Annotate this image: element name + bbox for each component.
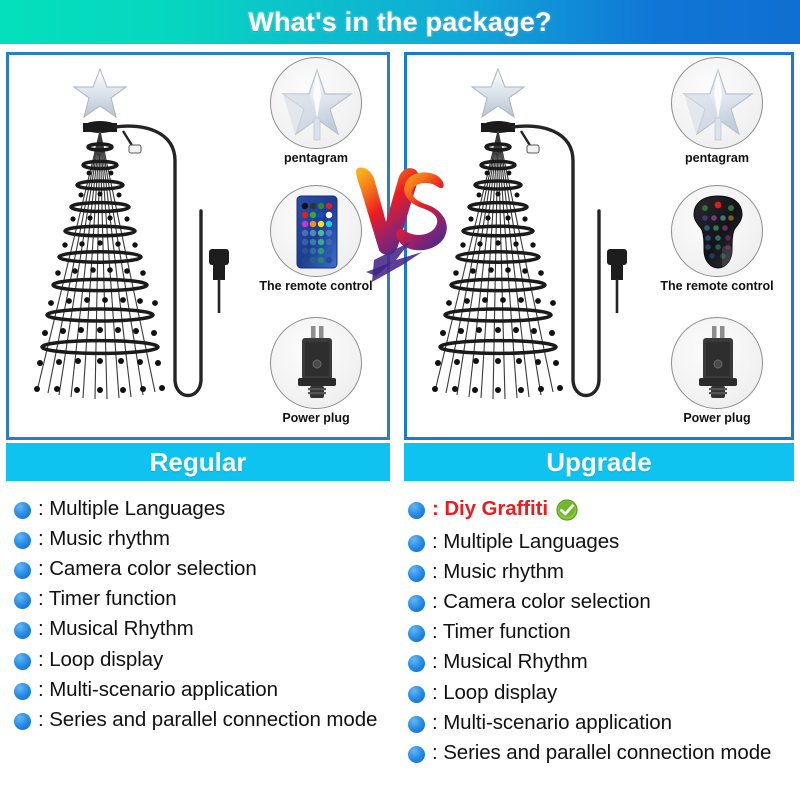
feature-label: : Loop display — [38, 645, 163, 674]
bullet-icon — [14, 562, 31, 579]
feature-item: : Music rhythm — [14, 524, 400, 553]
feature-list-upgrade: : Diy Graffiti: Multiple Languages: Musi… — [408, 494, 796, 768]
panel-regular: pentagram — [6, 52, 390, 440]
feature-label: : Diy Graffiti — [432, 494, 548, 523]
bullet-icon — [14, 592, 31, 609]
item-pentagram-upgrade: pentagram — [665, 57, 769, 165]
bullet-icon — [408, 595, 425, 612]
feature-label: : Timer function — [432, 617, 571, 646]
item-remote-upgrade: The remote control — [665, 185, 769, 293]
feature-label: : Timer function — [38, 584, 177, 613]
feature-label: : Music rhythm — [432, 557, 564, 586]
label-bar-regular: Regular — [6, 443, 390, 481]
item-plug-upgrade: Power plug — [665, 317, 769, 425]
bullet-icon — [408, 655, 425, 672]
label-bar-upgrade: Upgrade — [404, 443, 794, 481]
feature-item: : Musical Rhythm — [14, 614, 400, 643]
bullet-icon — [408, 625, 425, 642]
item-pentagram-regular: pentagram — [264, 57, 368, 165]
vs-icon — [352, 160, 452, 300]
tree-regular — [15, 61, 205, 433]
feature-item: : Camera color selection — [408, 587, 796, 616]
bullet-icon — [14, 502, 31, 519]
power-plug-icon — [671, 317, 763, 409]
item-plug-regular: Power plug — [264, 317, 368, 425]
feature-label: : Series and parallel connection mode — [432, 738, 771, 767]
bullet-icon — [408, 746, 425, 763]
bullet-icon — [14, 683, 31, 700]
bullet-icon — [408, 535, 425, 552]
cable-connector-icon — [597, 243, 637, 313]
vs-badge — [352, 160, 452, 300]
feature-item: : Music rhythm — [408, 557, 796, 586]
remote-control-blue-icon — [270, 185, 362, 277]
feature-item: : Timer function — [14, 584, 400, 613]
bullet-icon — [14, 622, 31, 639]
bullet-icon — [14, 532, 31, 549]
feature-item: : Multiple Languages — [14, 494, 400, 523]
christmas-tree-lights-icon — [15, 61, 205, 433]
check-icon — [556, 499, 578, 526]
bullet-icon — [408, 565, 425, 582]
bullet-icon — [408, 716, 425, 733]
feature-label: : Multi-scenario application — [38, 675, 278, 704]
feature-label: : Musical Rhythm — [432, 647, 588, 676]
bullet-icon — [14, 653, 31, 670]
feature-list-regular: : Multiple Languages: Music rhythm: Came… — [14, 494, 400, 735]
feature-label: : Music rhythm — [38, 524, 170, 553]
feature-label: : Camera color selection — [432, 587, 651, 616]
feature-item: : Diy Graffiti — [408, 494, 796, 526]
bullet-icon — [408, 502, 425, 519]
bullet-icon — [14, 713, 31, 730]
feature-label: : Series and parallel connection mode — [38, 705, 377, 734]
page-title: What's in the package? — [0, 0, 800, 44]
feature-item: : Series and parallel connection mode — [14, 705, 400, 734]
bullet-icon — [408, 686, 425, 703]
item-caption: Power plug — [665, 411, 769, 425]
star-topper-icon — [671, 57, 763, 149]
panel-label: Regular — [150, 447, 247, 478]
feature-label: : Musical Rhythm — [38, 614, 194, 643]
feature-label: : Camera color selection — [38, 554, 257, 583]
feature-item: : Multi-scenario application — [408, 708, 796, 737]
item-caption: pentagram — [665, 151, 769, 165]
infographic-page: What's in the package? — [0, 0, 800, 800]
remote-control-black-icon — [671, 185, 763, 277]
power-plug-icon — [270, 317, 362, 409]
panel-label: Upgrade — [546, 447, 651, 478]
feature-item: : Camera color selection — [14, 554, 400, 583]
feature-item: : Multiple Languages — [408, 527, 796, 556]
item-caption: Power plug — [264, 411, 368, 425]
feature-label: : Multiple Languages — [432, 527, 619, 556]
feature-label: : Loop display — [432, 678, 557, 707]
star-topper-icon — [270, 57, 362, 149]
feature-label: : Multi-scenario application — [432, 708, 672, 737]
feature-item: : Musical Rhythm — [408, 647, 796, 676]
panel-upgrade: pentagram — [404, 52, 794, 440]
feature-item: : Timer function — [408, 617, 796, 646]
page-header: What's in the package? — [0, 0, 800, 44]
feature-label: : Multiple Languages — [38, 494, 225, 523]
item-caption: The remote control — [647, 279, 787, 293]
cable-connector-icon — [199, 243, 239, 313]
feature-item: : Loop display — [408, 678, 796, 707]
feature-item: : Multi-scenario application — [14, 675, 400, 704]
feature-item: : Loop display — [14, 645, 400, 674]
feature-item: : Series and parallel connection mode — [408, 738, 796, 767]
